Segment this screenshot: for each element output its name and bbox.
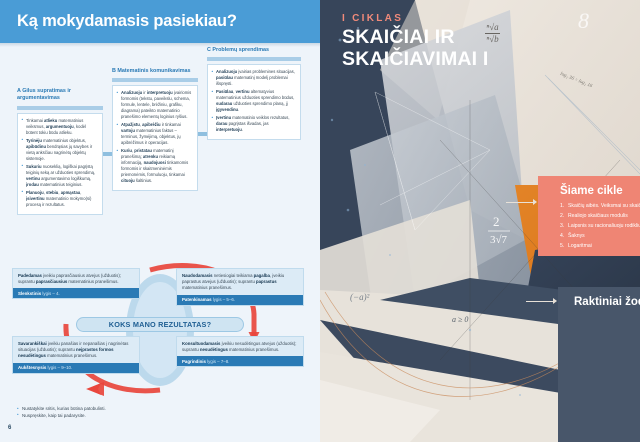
page-header: Ką mokydamasis pasiekiau? xyxy=(0,0,320,43)
list-item: Analizuoju ir interpretuoju įvairiomis f… xyxy=(116,90,193,120)
keywords-pill-container: aibėaibės elementaiskaičių aibėsaibių są… xyxy=(574,314,640,431)
keywords-panel: Raktiniai žodžiai aibėaibės elementaiska… xyxy=(558,287,640,442)
quadrant-basic-level: Pagrindinis lygis – 7–8. xyxy=(177,356,303,366)
list-item: Nustatykite sritis, kurias būtina patobu… xyxy=(17,406,257,413)
column-a-heading: A Gilus supratimas ir argumentavimas xyxy=(17,88,103,103)
cycle-topic-number: 4. xyxy=(560,232,568,242)
quadrant-satisfactory-level: Patenkinamas lygis – 5–6. xyxy=(177,295,303,305)
column-a-box: Tinkamai atlieku matematinius veiksmus, … xyxy=(17,113,103,215)
quadrant-basic: Konsultuodamasis įveikiu nesudėtingus at… xyxy=(176,336,304,367)
level-name: Slenkstinis xyxy=(18,291,41,296)
in-this-cycle-list: 1.Skaičių aibės. Veiksmai su skaičių aib… xyxy=(560,202,640,252)
keywords-row: Veno diagramaskaičiaus logaritmas xyxy=(574,360,640,371)
column-b-list: Analizuoju ir interpretuoju įvairiomis f… xyxy=(116,90,193,184)
quadrant-advanced-level: Aukštesnysis lygis – 9–10. xyxy=(13,363,139,373)
level-value: lygis – 5–6. xyxy=(213,297,235,302)
list-item: Planuoju, stebiu, apmąstau, įsivertinu m… xyxy=(21,190,98,208)
keywords-row: n-tojo laipsnio šaknis xyxy=(574,405,640,416)
column-a-rule xyxy=(17,106,103,110)
keywords-row: laipsnių ir šaknų savybės xyxy=(574,420,640,431)
list-item: Pasiūlau, vertinu alternatyvius matemati… xyxy=(211,89,296,113)
cycle-topic-item: 3.Laipsnis su racionaliuoju rodikliu xyxy=(560,222,640,232)
keywords-leader-line xyxy=(526,301,554,302)
list-item: Įvertinu matematinio veiklos rezultatus,… xyxy=(211,115,296,133)
svg-text:2: 2 xyxy=(493,214,500,229)
cikle-leader-arrowhead xyxy=(533,199,537,205)
keywords-leader-arrowhead xyxy=(553,298,557,304)
quadrant-satisfactory: Naudodamasis netiesiogiai teikiama pagal… xyxy=(176,268,304,306)
list-item: Nuspręskite, kaip tai padarysite. xyxy=(17,413,257,420)
list-item: Tinkamai atlieku matematinius veiksmus, … xyxy=(21,118,98,136)
keywords-row: realiojo skaičiaus modulis xyxy=(574,375,640,386)
cycle-label: I CIKLAS xyxy=(342,13,403,24)
level-value: lygis – 4. xyxy=(42,291,59,296)
svg-text:(−a)²: (−a)² xyxy=(350,292,370,302)
footer-notes: Nustatykite sritis, kurias būtina patobu… xyxy=(17,406,257,420)
level-value: lygis – 7–8. xyxy=(207,359,229,364)
quadrant-threshold-text: Padedamas įveikiu paprasčiausius atvejus… xyxy=(13,269,139,288)
level-name: Pagrindinis xyxy=(182,359,206,364)
condition-notation: a ≥ 0 xyxy=(452,315,468,324)
cycle-topic-label: Šaknys xyxy=(568,233,585,239)
cycle-topic-label: Realiojo skaičiaus modulis xyxy=(568,213,628,219)
keywords-row: skaičių aibėsaibių sąjunga xyxy=(574,329,640,340)
level-value: lygis – 9–10. xyxy=(48,365,73,370)
quadrant-advanced-text: Savarankiškai įveikiu panašias ir nepana… xyxy=(13,337,139,363)
connector-tick-bc xyxy=(198,132,207,136)
svg-text:8: 8 xyxy=(578,8,589,33)
cycle-topic-number: 3. xyxy=(560,222,568,232)
cycle-center-label: KOKS MANO REZULTATAS? xyxy=(76,317,244,332)
quadrant-threshold: Padedamas įveikiu paprasčiausius atvejus… xyxy=(12,268,140,299)
in-this-cycle-title: Šiame cikle xyxy=(560,185,640,197)
list-item: Analizuoju įvairias problemines situacij… xyxy=(211,69,296,87)
cycle-topic-label: Laipsnis su racionaliuoju rodikliu xyxy=(568,223,640,229)
column-c-box: Analizuoju įvairias problemines situacij… xyxy=(207,64,301,140)
cycle-topic-item: 4.Šaknys xyxy=(560,232,640,242)
column-b-heading: B Matematinis komunikavimas xyxy=(112,68,198,75)
quadrant-threshold-level: Slenkstinis lygis – 4. xyxy=(13,288,139,298)
page-number: 6 xyxy=(8,425,11,431)
level-name: Aukštesnysis xyxy=(18,365,46,370)
column-a-list: Tinkamai atlieku matematinius veiksmus, … xyxy=(21,118,98,208)
column-c-heading: C Problemų sprendimas xyxy=(207,47,301,54)
quadrant-basic-text: Konsultuodamasis įveikiu nesudėtingus at… xyxy=(177,337,303,356)
column-c-problem-solving: C Problemų sprendimas Analizuoju įvairia… xyxy=(207,47,301,140)
column-c-list: Analizuoju įvairias problemines situacij… xyxy=(211,69,296,133)
keywords-row: aibių skirtumasaibių sankirta xyxy=(574,344,640,355)
spread: Ką mokydamasis pasiekiau? A Gilus suprat… xyxy=(0,0,640,442)
cycle-topic-number: 5. xyxy=(560,242,568,252)
column-b-math-communication: B Matematinis komunikavimas Analizuoju i… xyxy=(112,68,198,191)
column-a-deep-understanding: A Gilus supratimas ir argumentavimas Tin… xyxy=(17,88,103,215)
list-item: Atpažįstu, apibrėžiu ir tinkamai vartoju… xyxy=(116,122,193,146)
keywords-row: aibėaibės elementai xyxy=(574,314,640,325)
level-name: Patenkinamas xyxy=(182,297,212,302)
competency-columns: A Gilus supratimas ir argumentavimas Tin… xyxy=(0,47,320,262)
quadrant-advanced: Savarankiškai įveikiu panašias ir nepana… xyxy=(12,336,140,374)
cycle-title: SKAIČIAI IR SKAIČIAVIMAI I xyxy=(342,26,572,70)
result-cycle-diagram: Padedamas įveikiu paprasčiausius atvejus… xyxy=(0,262,320,402)
right-page: 8 16 8 2 3√7 (−a)² ⁿ√a ⁿ√b log₂ 36 ÷ log… xyxy=(320,0,640,442)
keywords-title: Raktiniai žodžiai xyxy=(574,296,640,308)
connector-tick-ab xyxy=(103,152,112,156)
cycle-topic-label: Skaičių aibės. Veiksmai su skaičių aibėm… xyxy=(568,203,640,209)
cycle-topic-item: 5.Logaritmai xyxy=(560,242,640,252)
page-title: Ką mokydamasis pasiekiau? xyxy=(0,12,237,31)
column-b-box: Analizuoju ir interpretuoju įvairiomis f… xyxy=(112,85,198,191)
svg-text:3√7: 3√7 xyxy=(490,234,508,246)
list-item: Sukuriu nuoseklią, logiškai pagrįstą tei… xyxy=(21,164,98,188)
cycle-topic-label: Logaritmai xyxy=(568,243,592,249)
keywords-row: laipsnis su racionaliuoju rodikliu xyxy=(574,390,640,401)
cycle-topic-number: 1. xyxy=(560,202,568,212)
quadrant-satisfactory-text: Naudodamasis netiesiogiai teikiama pagal… xyxy=(177,269,303,295)
list-item: Tyrinėju matematinius objektus, apibūdin… xyxy=(21,138,98,162)
left-page: Ką mokydamasis pasiekiau? A Gilus suprat… xyxy=(0,0,320,442)
cycle-topic-number: 2. xyxy=(560,212,568,222)
column-c-rule xyxy=(207,57,301,61)
in-this-cycle-panel: Šiame cikle 1.Skaičių aibės. Veiksmai su… xyxy=(538,176,640,256)
cycle-topic-item: 1.Skaičių aibės. Veiksmai su skaičių aib… xyxy=(560,202,640,212)
list-item: Kuriu, pristatau matematinį pranešimą; a… xyxy=(116,148,193,184)
column-b-rule xyxy=(112,78,198,82)
cikle-leader-line xyxy=(506,202,534,203)
cycle-topic-item: 2.Realiojo skaičiaus modulis xyxy=(560,212,640,222)
